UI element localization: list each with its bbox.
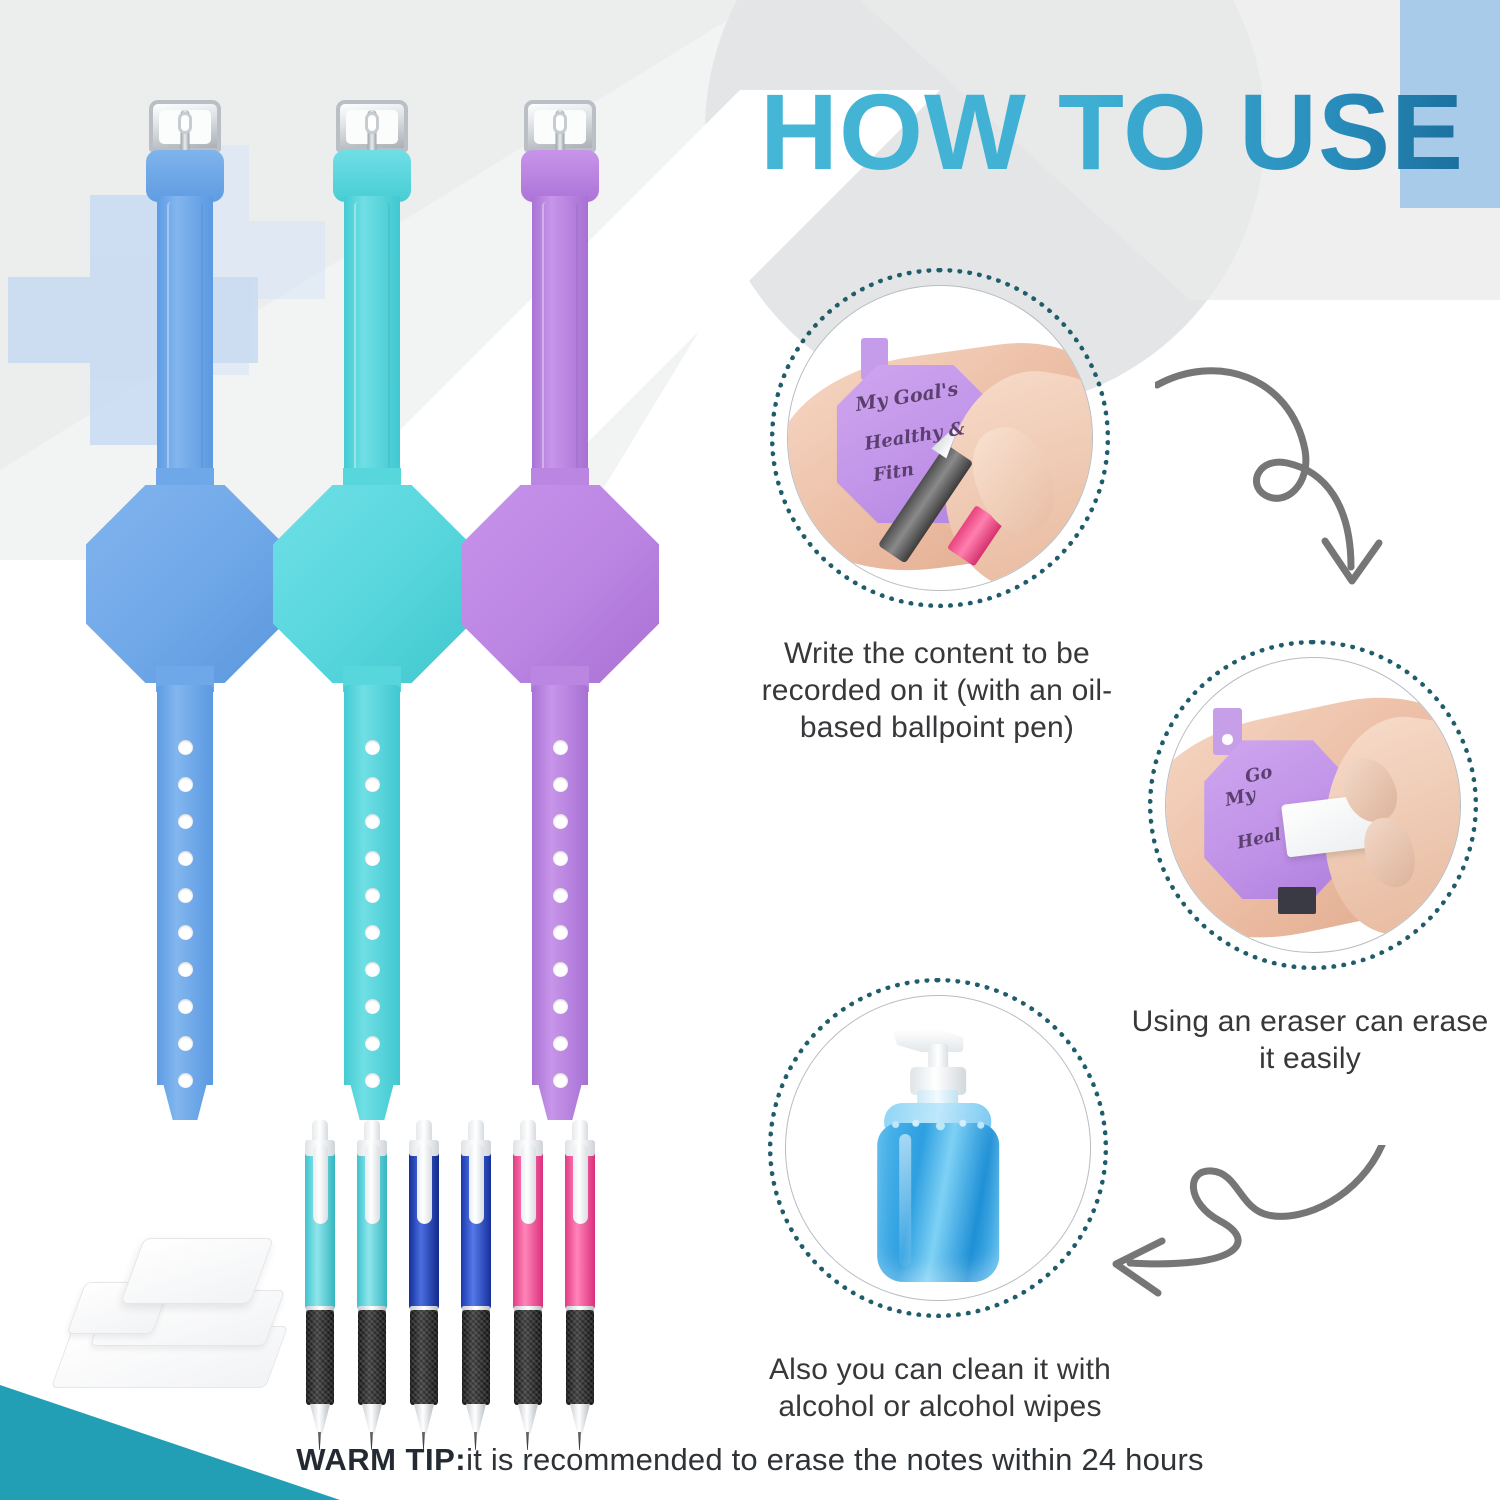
cyan-bracelet [272,100,472,1100]
photo-frame: My Go Heal [1165,657,1461,953]
purple-bracelet [460,100,660,1100]
eraser-block [120,1238,274,1304]
photo-frame: My Goal's Healthy & Fitn [787,285,1093,591]
sanitizer-bottle [877,1026,999,1281]
page-title: HOW TO USE [760,78,1464,186]
strap-holes [176,740,194,1110]
step-clean-caption: Also you can clean it with alcohol or al… [728,1352,1152,1426]
photo-frame [785,995,1091,1301]
warm-tip-footer: WARM TIP:it is recommended to erase the … [0,1442,1500,1478]
eraser-stack [48,1230,298,1410]
step-clean-photo [768,978,1108,1318]
step-write-caption: Write the content to be recorded on it (… [737,636,1137,747]
strap-holes [551,740,569,1110]
step-erase-photo: My Go Heal [1148,640,1478,970]
pen-blue-2 [461,1120,491,1450]
warm-tip-text: it is recommended to erase the notes wit… [466,1442,1204,1477]
writing-plate [273,485,471,683]
pen-blue-1 [409,1120,439,1450]
step-erase-caption: Using an eraser can erase it easily [1120,1004,1500,1078]
infographic-canvas: HOW TO USE [0,0,1500,1500]
curved-arrow-left-icon [1090,1145,1390,1345]
pen-pink-2 [565,1120,595,1450]
blue-bracelet [85,100,285,1100]
pen-turquoise-1 [305,1120,335,1450]
writing-plate [461,485,659,683]
curved-arrow-down-icon [1155,345,1435,595]
writing-plate [86,485,284,683]
step-write-photo: My Goal's Healthy & Fitn [770,268,1110,608]
pen-turquoise-2 [357,1120,387,1450]
warm-tip-label: WARM TIP: [296,1442,466,1477]
pen-set [305,1120,615,1460]
strap-holes [363,740,381,1110]
pen-pink-1 [513,1120,543,1450]
